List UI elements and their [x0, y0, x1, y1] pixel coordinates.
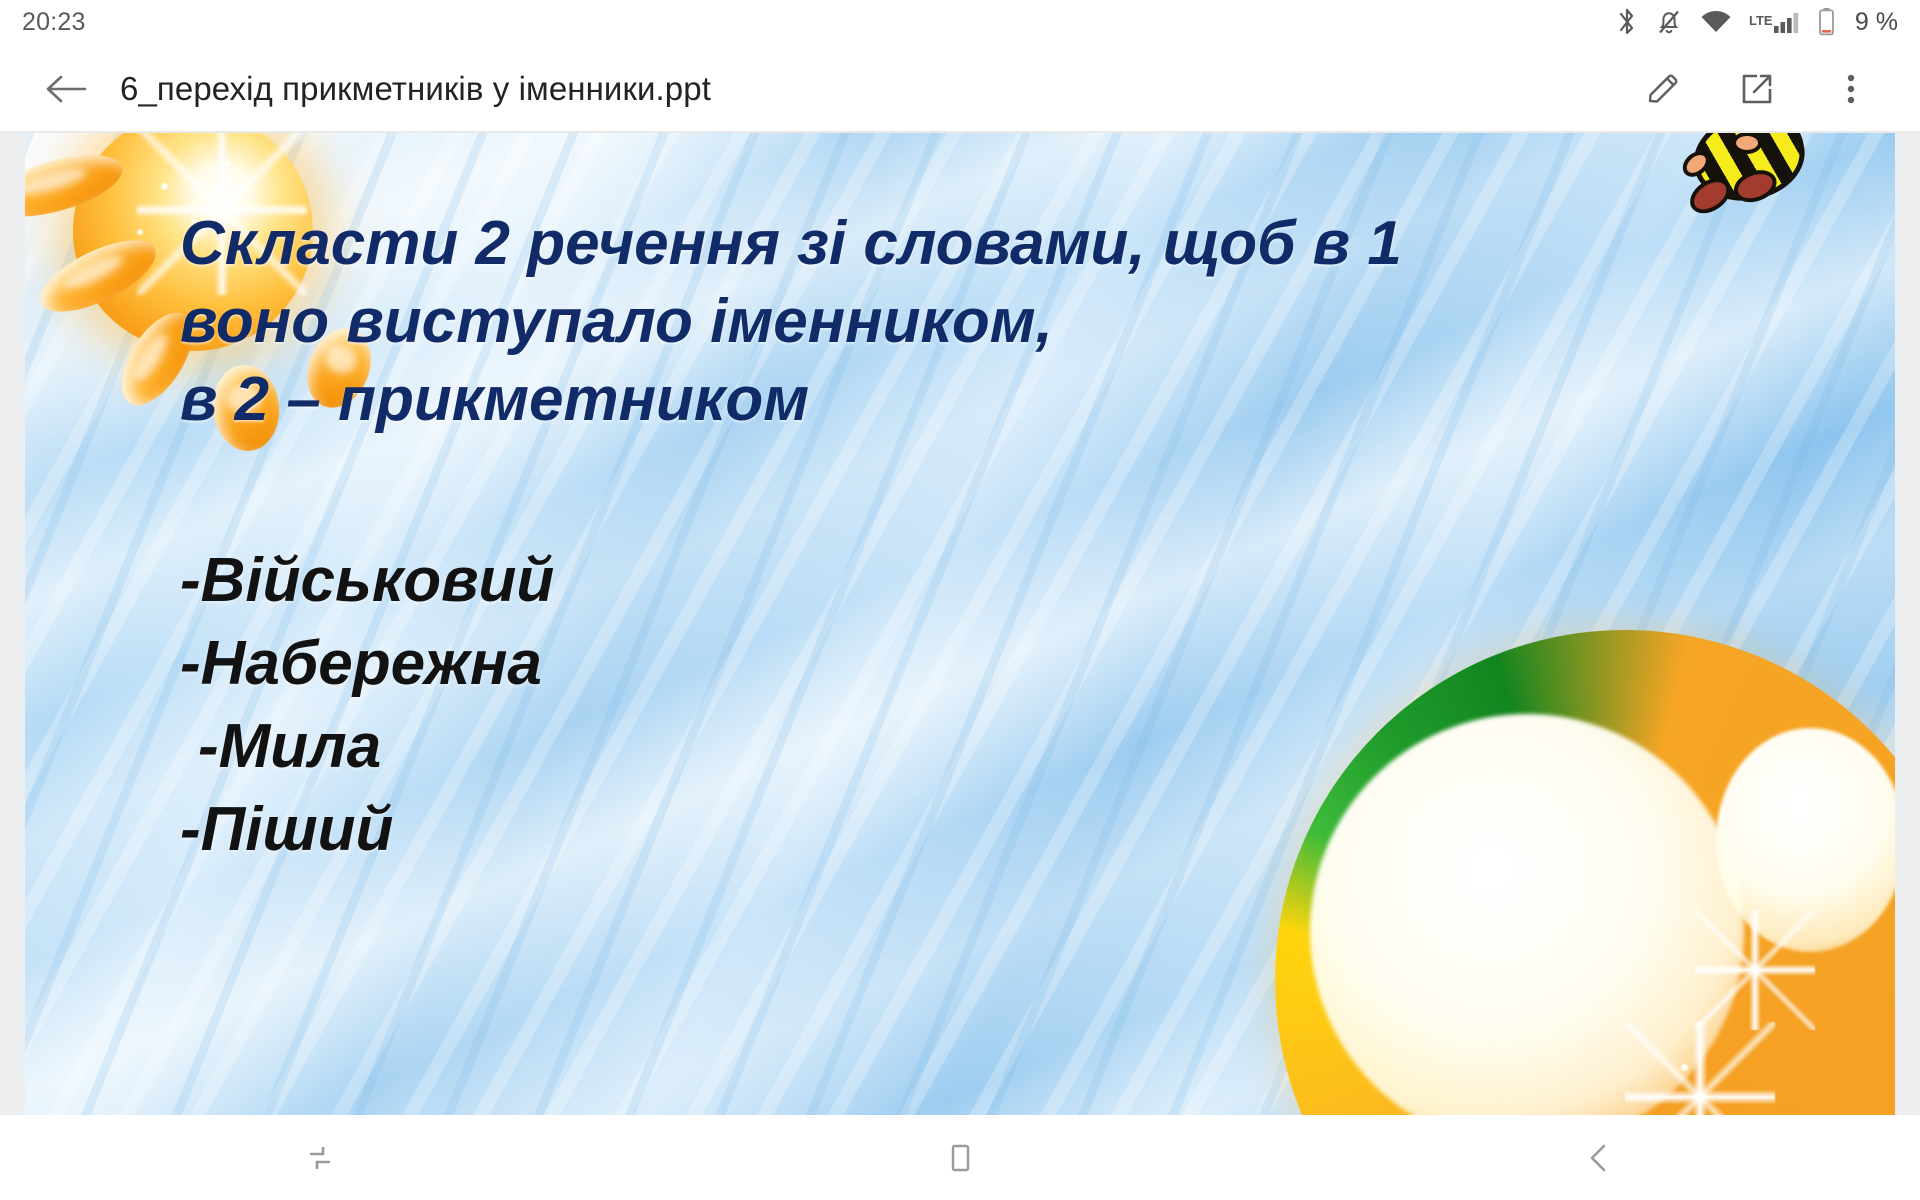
lte-signal-icon: LTE	[1749, 9, 1801, 35]
status-bar: 20:23 LTE	[0, 0, 1920, 44]
slide-text-block: Скласти 2 речення зі словами, щоб в 1 во…	[180, 205, 1640, 871]
slide-word-list: -Військовий -Набережна -Мила -Піший	[180, 539, 1640, 871]
status-bar-clock: 20:23	[22, 8, 86, 37]
sparkle-dot	[1681, 1064, 1688, 1071]
sparkle-dot	[225, 161, 230, 166]
bee-arm	[1732, 133, 1762, 154]
battery-icon	[1818, 7, 1835, 37]
home-icon[interactable]	[915, 1115, 1005, 1200]
bluetooth-icon	[1616, 7, 1638, 37]
recents-icon[interactable]	[275, 1115, 365, 1200]
battery-percent-label: 9 %	[1855, 8, 1898, 37]
svg-text:LTE: LTE	[1749, 13, 1773, 28]
wifi-icon	[1700, 9, 1732, 35]
bee-graphic	[1666, 133, 1838, 221]
sparkle-dot	[137, 229, 143, 235]
notifications-muted-icon	[1655, 7, 1683, 37]
document-viewer[interactable]: Скласти 2 речення зі словами, щоб в 1 во…	[0, 133, 1920, 1115]
sparkle-dot	[1765, 798, 1773, 806]
list-item: -Піший	[180, 788, 1640, 871]
open-external-icon[interactable]	[1732, 64, 1782, 114]
status-bar-icons: LTE 9 %	[1616, 7, 1898, 37]
list-item: -Набережна	[180, 622, 1640, 705]
sparkle-dot	[1800, 847, 1806, 853]
overflow-menu-icon[interactable]	[1826, 64, 1876, 114]
toolbar-actions	[1638, 64, 1876, 114]
app-toolbar: 6_перехід прикметників у іменники.ppt	[0, 44, 1920, 133]
android-nav-bar	[0, 1115, 1920, 1200]
edit-pencil-icon[interactable]	[1638, 64, 1688, 114]
presentation-slide[interactable]: Скласти 2 речення зі словами, щоб в 1 во…	[25, 133, 1895, 1115]
ball-highlight-small	[1716, 728, 1895, 952]
list-item: -Військовий	[180, 539, 1640, 622]
list-item: -Мила	[180, 705, 1640, 788]
slide-heading-line: Скласти 2 речення зі словами, щоб в 1	[180, 205, 1640, 283]
sparkle-dot	[161, 183, 168, 190]
document-title: 6_перехід прикметників у іменники.ppt	[120, 70, 711, 108]
slide-heading-line: воно виступало іменником,	[180, 283, 1640, 361]
back-icon[interactable]	[1555, 1115, 1645, 1200]
back-arrow-icon[interactable]	[38, 61, 94, 117]
slide-heading-line: в 2 – прикметником	[180, 361, 1640, 439]
